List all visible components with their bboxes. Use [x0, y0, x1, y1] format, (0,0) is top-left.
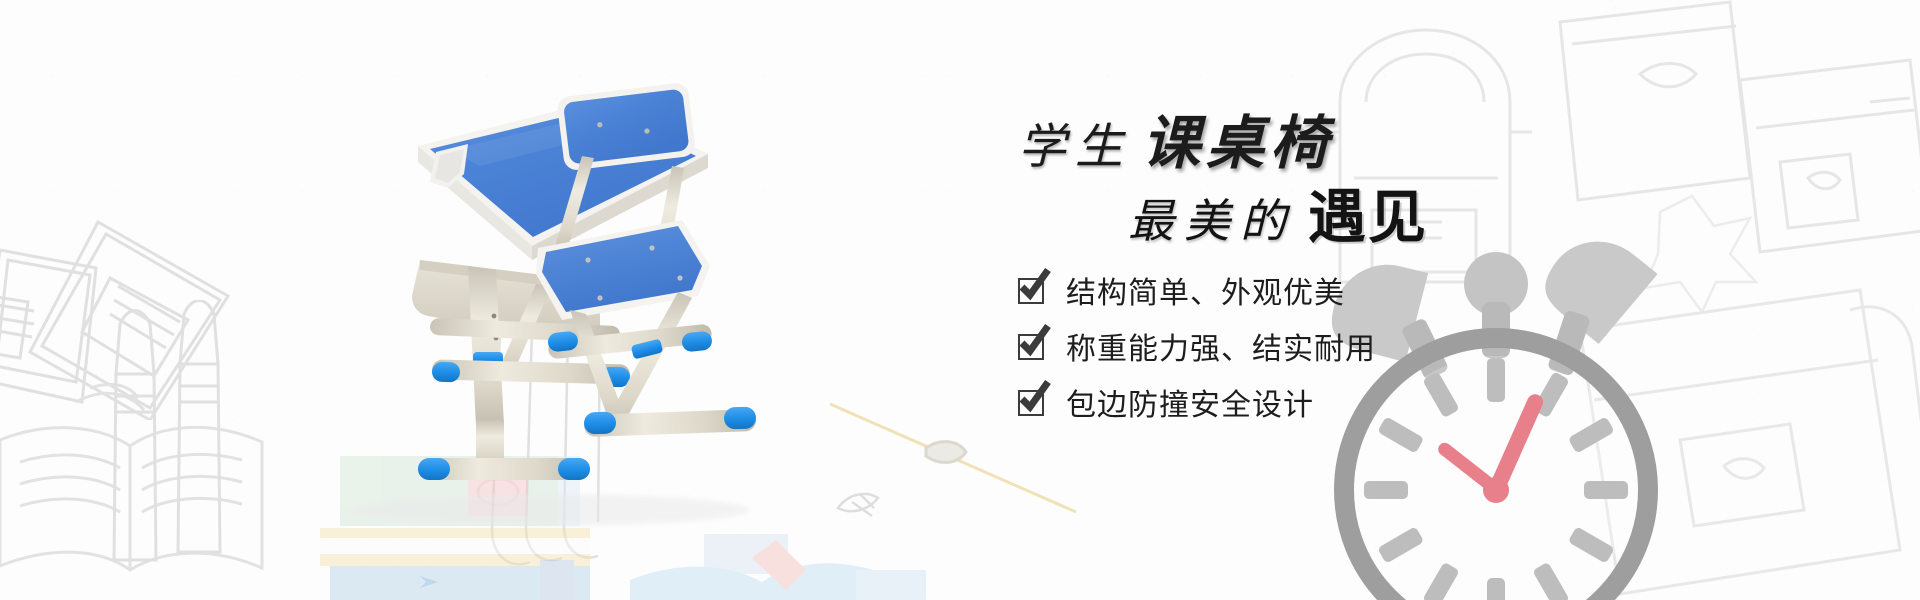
feature-item: 结构简单、外观优美 — [1018, 264, 1376, 316]
headline-line-2-emphasis: 遇见 — [1308, 185, 1428, 250]
headline-line-1-plain: 学生 — [1018, 119, 1132, 175]
feature-label: 结构简单、外观优美 — [1066, 268, 1345, 312]
feature-label: 称重能力强、结实耐用 — [1066, 324, 1376, 368]
headline-line-2: 最美的遇见 — [1128, 170, 1428, 254]
headline-line-1-emphasis: 课桌椅 — [1142, 109, 1334, 177]
checkbox-checked-icon — [1018, 387, 1048, 417]
checkbox-checked-icon — [1018, 275, 1048, 305]
promo-banner: 学生课桌椅 最美的遇见 结构简单、外观优美 — [0, 0, 1920, 600]
checkbox-checked-icon — [1018, 331, 1048, 361]
feature-item: 包边防撞安全设计 — [1018, 376, 1376, 428]
feature-label: 包边防撞安全设计 — [1066, 380, 1314, 424]
feature-list: 结构简单、外观优美 称重能力强、结实耐用 包边防撞安 — [1018, 264, 1376, 432]
headline-line-2-plain: 最美的 — [1128, 194, 1296, 248]
feature-item: 称重能力强、结实耐用 — [1018, 320, 1376, 372]
headline-line-1: 学生课桌椅 — [1018, 96, 1334, 180]
copy-block: 学生课桌椅 最美的遇见 结构简单、外观优美 — [1018, 96, 1578, 496]
student-desk-and-chair-photo — [300, 70, 860, 530]
